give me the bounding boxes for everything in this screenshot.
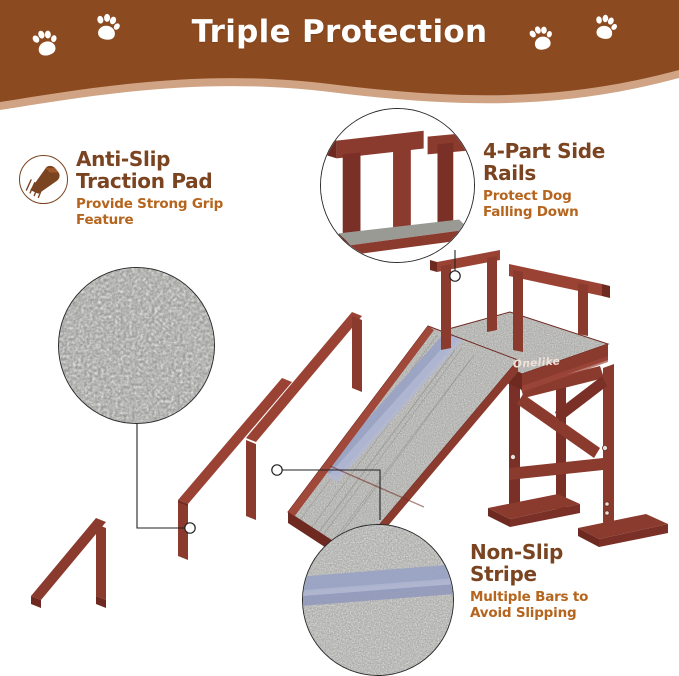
feature-block-non-slip-stripe: Non-Slip Stripe Multiple Bars to Avoid S… <box>470 541 675 621</box>
screw-icon <box>605 511 609 515</box>
side-rail-post-platform-b <box>487 256 497 332</box>
side-rail-post-platform-c <box>513 270 523 352</box>
feature-sub-line2: Falling Down <box>483 204 673 220</box>
feature-sub-line2: Feature <box>76 212 281 228</box>
feature-title-stripe: Non-Slip Stripe <box>470 541 675 586</box>
feature-title-line1: Anti-Slip <box>76 148 281 170</box>
feature-sub-line1: Provide Strong Grip <box>76 196 281 212</box>
feature-sub-line2: Avoid Slipping <box>470 605 675 621</box>
infographic-canvas: Triple Protection <box>0 0 679 665</box>
side-rail-bar-mid <box>246 312 362 442</box>
callout-circle-side-rails <box>320 108 475 263</box>
feature-sub-line1: Protect Dog <box>483 188 673 204</box>
feature-block-side-rails: 4-Part Side Rails Protect Dog Falling Do… <box>483 140 673 220</box>
feature-title-line2: Rails <box>483 162 673 184</box>
carpet-with-blue-stripe-closeup <box>303 525 453 675</box>
side-rail-post-platform-d <box>578 283 588 336</box>
traction-pad-glyph <box>20 156 66 202</box>
side-rail-post-left-a <box>96 524 106 600</box>
feature-sub-line1: Multiple Bars to <box>470 589 675 605</box>
side-rail-cap-right <box>602 284 610 298</box>
feature-title-line2: Stripe <box>470 563 675 585</box>
carpet-texture-closeup <box>59 268 214 423</box>
side-rail-post-platform-a <box>441 264 451 350</box>
wooden-side-rail-closeup <box>321 109 474 262</box>
feature-title-rails: 4-Part Side Rails <box>483 140 673 185</box>
feature-subtitle-rails: Protect Dog Falling Down <box>483 188 673 220</box>
feature-subtitle-traction: Provide Strong Grip Feature <box>76 196 281 228</box>
feature-title-line2: Traction Pad <box>76 170 281 192</box>
side-rail-post-left-b <box>178 502 188 560</box>
side-rail-bar-left-lower <box>31 518 106 600</box>
screw-icon <box>605 502 609 506</box>
feature-block-traction-pad: Anti-Slip Traction Pad Provide Strong Gr… <box>76 148 281 228</box>
screw-icon <box>602 445 607 450</box>
callout-circle-traction-pad <box>58 267 215 424</box>
screw-icon <box>510 454 515 459</box>
feature-title-line1: Non-Slip <box>470 541 675 563</box>
side-rail-post-mid <box>246 440 256 520</box>
feature-subtitle-stripe: Multiple Bars to Avoid Slipping <box>470 589 675 621</box>
traction-pad-icon <box>19 155 68 204</box>
side-rail-post-mid-upper <box>352 316 362 392</box>
feature-title-traction: Anti-Slip Traction Pad <box>76 148 281 193</box>
feature-title-line1: 4-Part Side <box>483 140 673 162</box>
callout-circle-non-slip-stripe <box>302 524 454 676</box>
